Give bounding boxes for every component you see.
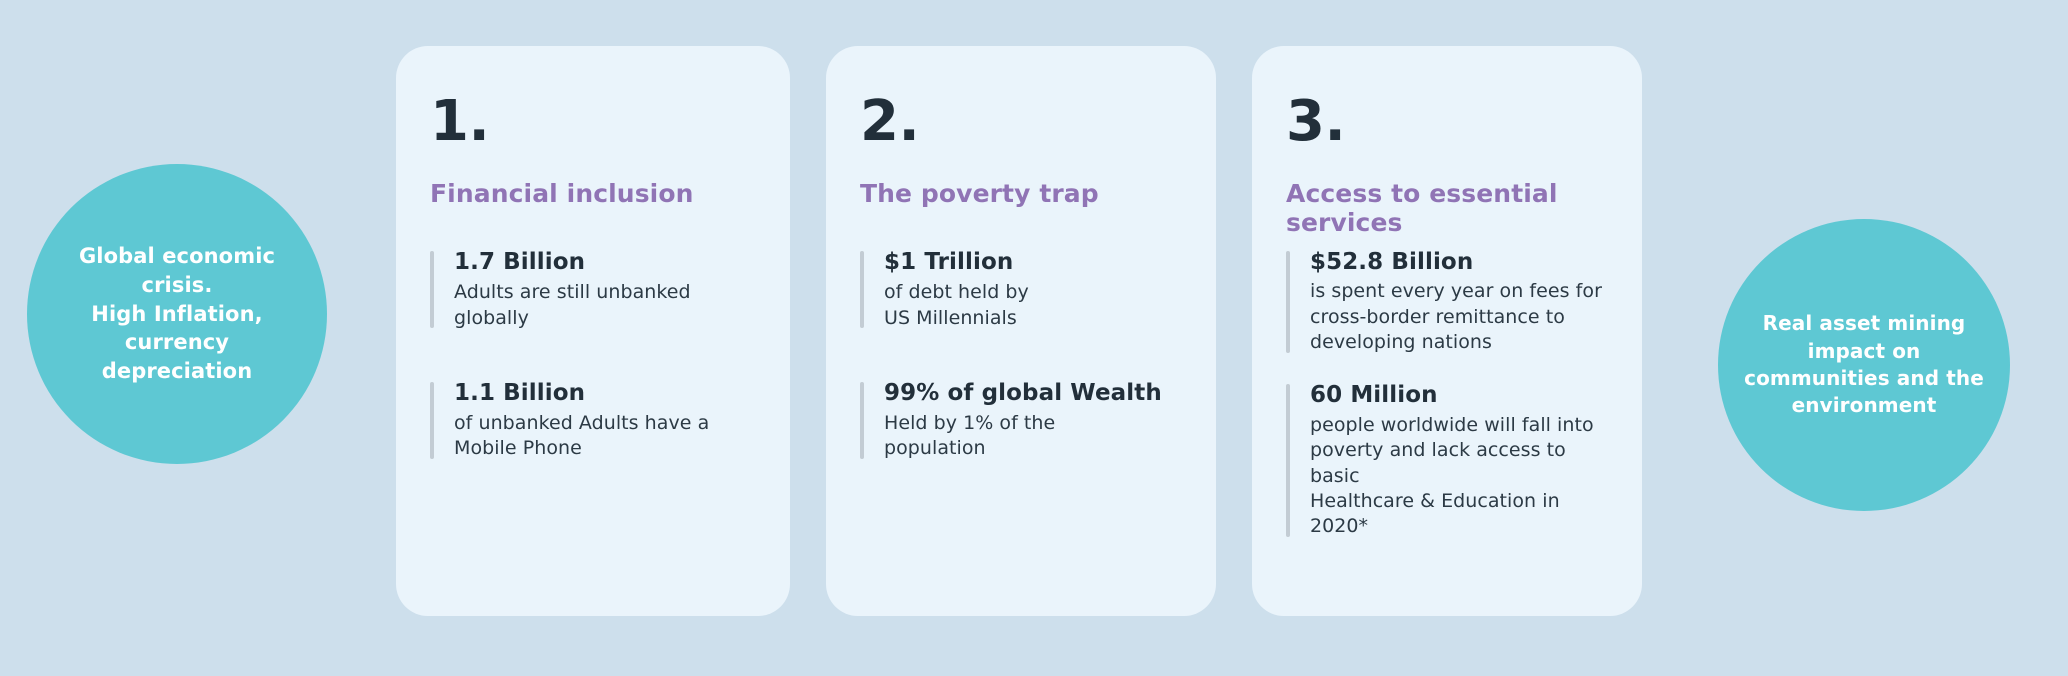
card-financial-inclusion[interactable]: 1. Financial inclusion 1.7 Billion Adult… [396,46,790,616]
stat-item: $1 Trillion of debt held by US Millennia… [860,248,1182,331]
stat-list: $1 Trillion of debt held by US Millennia… [860,248,1182,462]
left-circle-text: Global economic crisis. High Inflation, … [61,242,293,386]
stat-description: is spent every year on fees for cross-bo… [1310,279,1608,355]
card-number: 2. [860,94,1182,150]
stat-accent-bar [1286,251,1290,353]
card-access-essential-services[interactable]: 3. Access to essential services $52.8 Bi… [1252,46,1642,616]
stat-item: 60 Million people worldwide will fall in… [1286,381,1608,540]
card-number: 1. [430,94,756,150]
stat-item: $52.8 Billion is spent every year on fee… [1286,248,1608,356]
left-context-circle: Global economic crisis. High Inflation, … [27,164,327,464]
stat-description: Held by 1% of the population [884,411,1182,462]
stat-item: 1.1 Billion of unbanked Adults have a Mo… [430,379,756,462]
stat-accent-bar [860,251,864,328]
right-context-circle: Real asset mining impact on communities … [1718,219,2010,511]
stat-value: 99% of global Wealth [884,379,1182,409]
card-title: The poverty trap [860,179,1182,208]
stat-accent-bar [1286,384,1290,537]
stat-accent-bar [430,251,434,328]
infographic-stage: Global economic crisis. High Inflation, … [0,0,2068,676]
stat-value: $1 Trillion [884,248,1182,278]
stat-description: of unbanked Adults have a Mobile Phone [454,411,756,462]
stat-description: Adults are still unbanked globally [454,280,756,331]
card-number: 3. [1286,94,1608,150]
card-poverty-trap[interactable]: 2. The poverty trap $1 Trillion of debt … [826,46,1216,616]
stat-description: of debt held by US Millennials [884,280,1182,331]
card-title: Access to essential services [1286,179,1608,238]
stat-list: $52.8 Billion is spent every year on fee… [1286,248,1608,540]
stat-accent-bar [860,382,864,459]
stat-item: 99% of global Wealth Held by 1% of the p… [860,379,1182,462]
stat-value: 60 Million [1310,381,1608,411]
stat-value: 1.1 Billion [454,379,756,409]
stat-list: 1.7 Billion Adults are still unbanked gl… [430,248,756,462]
stat-item: 1.7 Billion Adults are still unbanked gl… [430,248,756,331]
right-circle-text: Real asset mining impact on communities … [1734,310,1994,420]
stat-value: $52.8 Billion [1310,248,1608,278]
card-title: Financial inclusion [430,179,756,208]
stat-accent-bar [430,382,434,459]
stat-description: people worldwide will fall into poverty … [1310,413,1608,540]
stat-value: 1.7 Billion [454,248,756,278]
